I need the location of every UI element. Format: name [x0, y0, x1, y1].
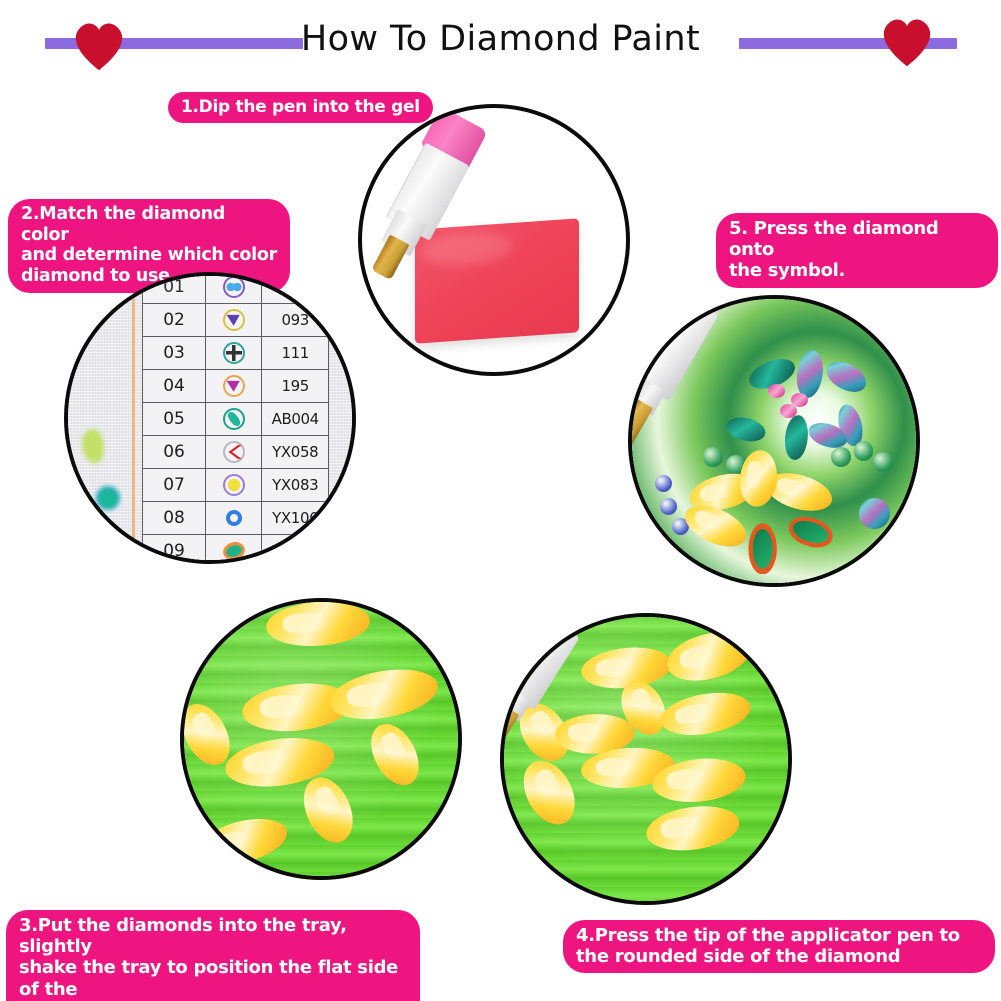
chart-symbol-cell	[206, 469, 262, 502]
table-row: 06YX058	[142, 436, 328, 469]
gel-pad	[415, 218, 579, 343]
heart-icon	[878, 14, 936, 68]
mandala-canvas	[632, 299, 916, 583]
chart-number-cell: 03	[142, 337, 205, 370]
step-1-photo	[358, 104, 630, 376]
chart-code-cell: AB004	[262, 403, 329, 436]
chart-code-cell: 093	[262, 304, 329, 337]
chevron-left-circle-symbol	[223, 441, 245, 463]
infographic-root: How To Diamond Paint 1.Dip the pen into …	[0, 0, 1001, 1001]
chart-code-cell: YX125	[262, 535, 329, 565]
chart-number-cell: 04	[142, 370, 205, 403]
chart-code-cell: 195	[262, 370, 329, 403]
chart-number-cell: 07	[142, 469, 205, 502]
chart-code-cell: 111	[262, 337, 329, 370]
pattern-dot	[703, 447, 723, 467]
table-row: 08YX106	[142, 502, 328, 535]
table-row: 01028	[142, 272, 328, 304]
color-chart-table: 0102802093031110419505AB00406YX05807YX08…	[142, 272, 329, 564]
chart-code-cell: YX106	[262, 502, 329, 535]
canvas-guide-line	[132, 276, 135, 560]
chart-code-cell: 028	[262, 272, 329, 304]
chart-number-cell: 06	[142, 436, 205, 469]
table-row: 05AB004	[142, 403, 328, 436]
chart-code-cell: YX058	[262, 436, 329, 469]
table-row: 03111	[142, 337, 328, 370]
chart-number-cell: 08	[142, 502, 205, 535]
pattern-dot	[780, 404, 797, 418]
pattern-dot	[854, 441, 874, 461]
ring-circle-symbol	[223, 507, 245, 529]
step-2-photo: 0102802093031110419505AB00406YX05807YX08…	[64, 272, 356, 564]
step-4-label: 4.Press the tip of the applicator pen to…	[563, 920, 995, 973]
chart-number-cell: 05	[142, 403, 205, 436]
pattern-dot	[655, 475, 672, 492]
chart-symbol-cell	[206, 436, 262, 469]
chart-number-cell: 02	[142, 304, 205, 337]
chart-number-cell: 01	[142, 272, 205, 304]
table-row: 04195	[142, 370, 328, 403]
teal-leaf-symbol	[223, 540, 245, 562]
chart-symbol-cell	[206, 337, 262, 370]
chart-symbol-cell	[206, 403, 262, 436]
plus-circle-symbol	[223, 342, 245, 364]
step-5-label: 5. Press the diamond onto the symbol.	[716, 213, 998, 288]
step-4-photo	[500, 613, 792, 905]
step-5-photo	[628, 295, 920, 587]
step-3-label: 3.Put the diamonds into the tray, slight…	[6, 910, 420, 1001]
chart-symbol-cell	[206, 502, 262, 535]
table-row: 02093	[142, 304, 328, 337]
pattern-dot	[831, 447, 851, 467]
table-row: 07YX083	[142, 469, 328, 502]
chart-symbol-cell	[206, 535, 262, 565]
pen-tip	[372, 235, 409, 280]
chart-code-cell: YX083	[262, 469, 329, 502]
symbol-fill	[753, 529, 773, 569]
heart-icon	[70, 18, 128, 72]
chart-symbol-cell	[206, 370, 262, 403]
chart-number-cell: 09	[142, 535, 205, 565]
filled-dot-circle-symbol	[223, 474, 245, 496]
slash-circle-symbol	[223, 408, 245, 430]
table-row: 09YX125	[142, 535, 328, 565]
step-3-photo	[180, 598, 462, 880]
double-dot-circle-symbol	[223, 276, 245, 298]
canvas-color-blob	[82, 429, 104, 463]
triangle-circle-symbol	[223, 309, 245, 331]
page-title: How To Diamond Paint	[0, 17, 1001, 61]
chart-symbol-cell	[206, 272, 262, 304]
chart-symbol-cell	[206, 304, 262, 337]
magenta-triangle-circle-symbol	[223, 375, 245, 397]
